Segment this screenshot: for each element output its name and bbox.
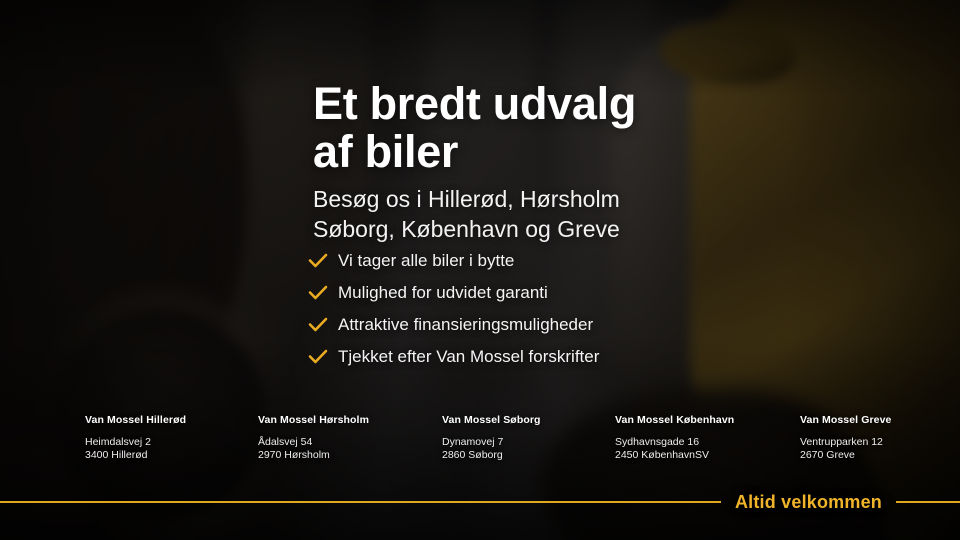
check-icon (308, 285, 338, 301)
feature-item: Attraktive finansieringsmuligheder (308, 309, 599, 340)
dealer-location-greve: Van Mossel Greve Ventrupparken 12 2670 G… (800, 414, 891, 462)
check-icon (308, 253, 338, 269)
dealer-location-soborg: Van Mossel Søborg Dynamovej 7 2860 Søbor… (442, 414, 541, 462)
feature-label: Tjekket efter Van Mossel forskrifter (338, 347, 599, 367)
dealer-address: Dynamovej 7 2860 Søborg (442, 436, 541, 462)
feature-label: Attraktive finansieringsmuligheder (338, 315, 593, 335)
subheadline: Besøg os i Hillerød, Hørsholm Søborg, Kø… (313, 184, 620, 244)
feature-label: Mulighed for udvidet garanti (338, 283, 548, 303)
dealer-name: Van Mossel Hørsholm (258, 414, 369, 426)
feature-item: Vi tager alle biler i bytte (308, 245, 599, 276)
dealer-location-horsholm: Van Mossel Hørsholm Ådalsvej 54 2970 Hør… (258, 414, 369, 462)
dealer-location-kobenhavn: Van Mossel København Sydhavnsgade 16 245… (615, 414, 734, 462)
footer-tagline: Altid velkommen (721, 489, 896, 515)
dealer-address: Ventrupparken 12 2670 Greve (800, 436, 891, 462)
slide-content: Et bredt udvalg af biler Besøg os i Hill… (0, 0, 960, 540)
check-icon (308, 349, 338, 365)
dealer-name: Van Mossel København (615, 414, 734, 426)
dealer-name: Van Mossel Greve (800, 414, 891, 426)
dealer-location-hillerod: Van Mossel Hillerød Heimdalsvej 2 3400 H… (85, 414, 186, 462)
dealer-address: Sydhavnsgade 16 2450 KøbenhavnSV (615, 436, 734, 462)
dealer-location-list: Van Mossel Hillerød Heimdalsvej 2 3400 H… (0, 414, 960, 474)
dealer-name: Van Mossel Hillerød (85, 414, 186, 426)
feature-item: Mulighed for udvidet garanti (308, 277, 599, 308)
dealer-address: Heimdalsvej 2 3400 Hillerød (85, 436, 186, 462)
promo-slide: Et bredt udvalg af biler Besøg os i Hill… (0, 0, 960, 540)
dealer-address: Ådalsvej 54 2970 Hørsholm (258, 436, 369, 462)
dealer-name: Van Mossel Søborg (442, 414, 541, 426)
feature-item: Tjekket efter Van Mossel forskrifter (308, 341, 599, 372)
feature-label: Vi tager alle biler i bytte (338, 251, 514, 271)
check-icon (308, 317, 338, 333)
feature-list: Vi tager alle biler i bytte Mulighed for… (308, 245, 599, 373)
headline: Et bredt udvalg af biler (313, 80, 636, 176)
